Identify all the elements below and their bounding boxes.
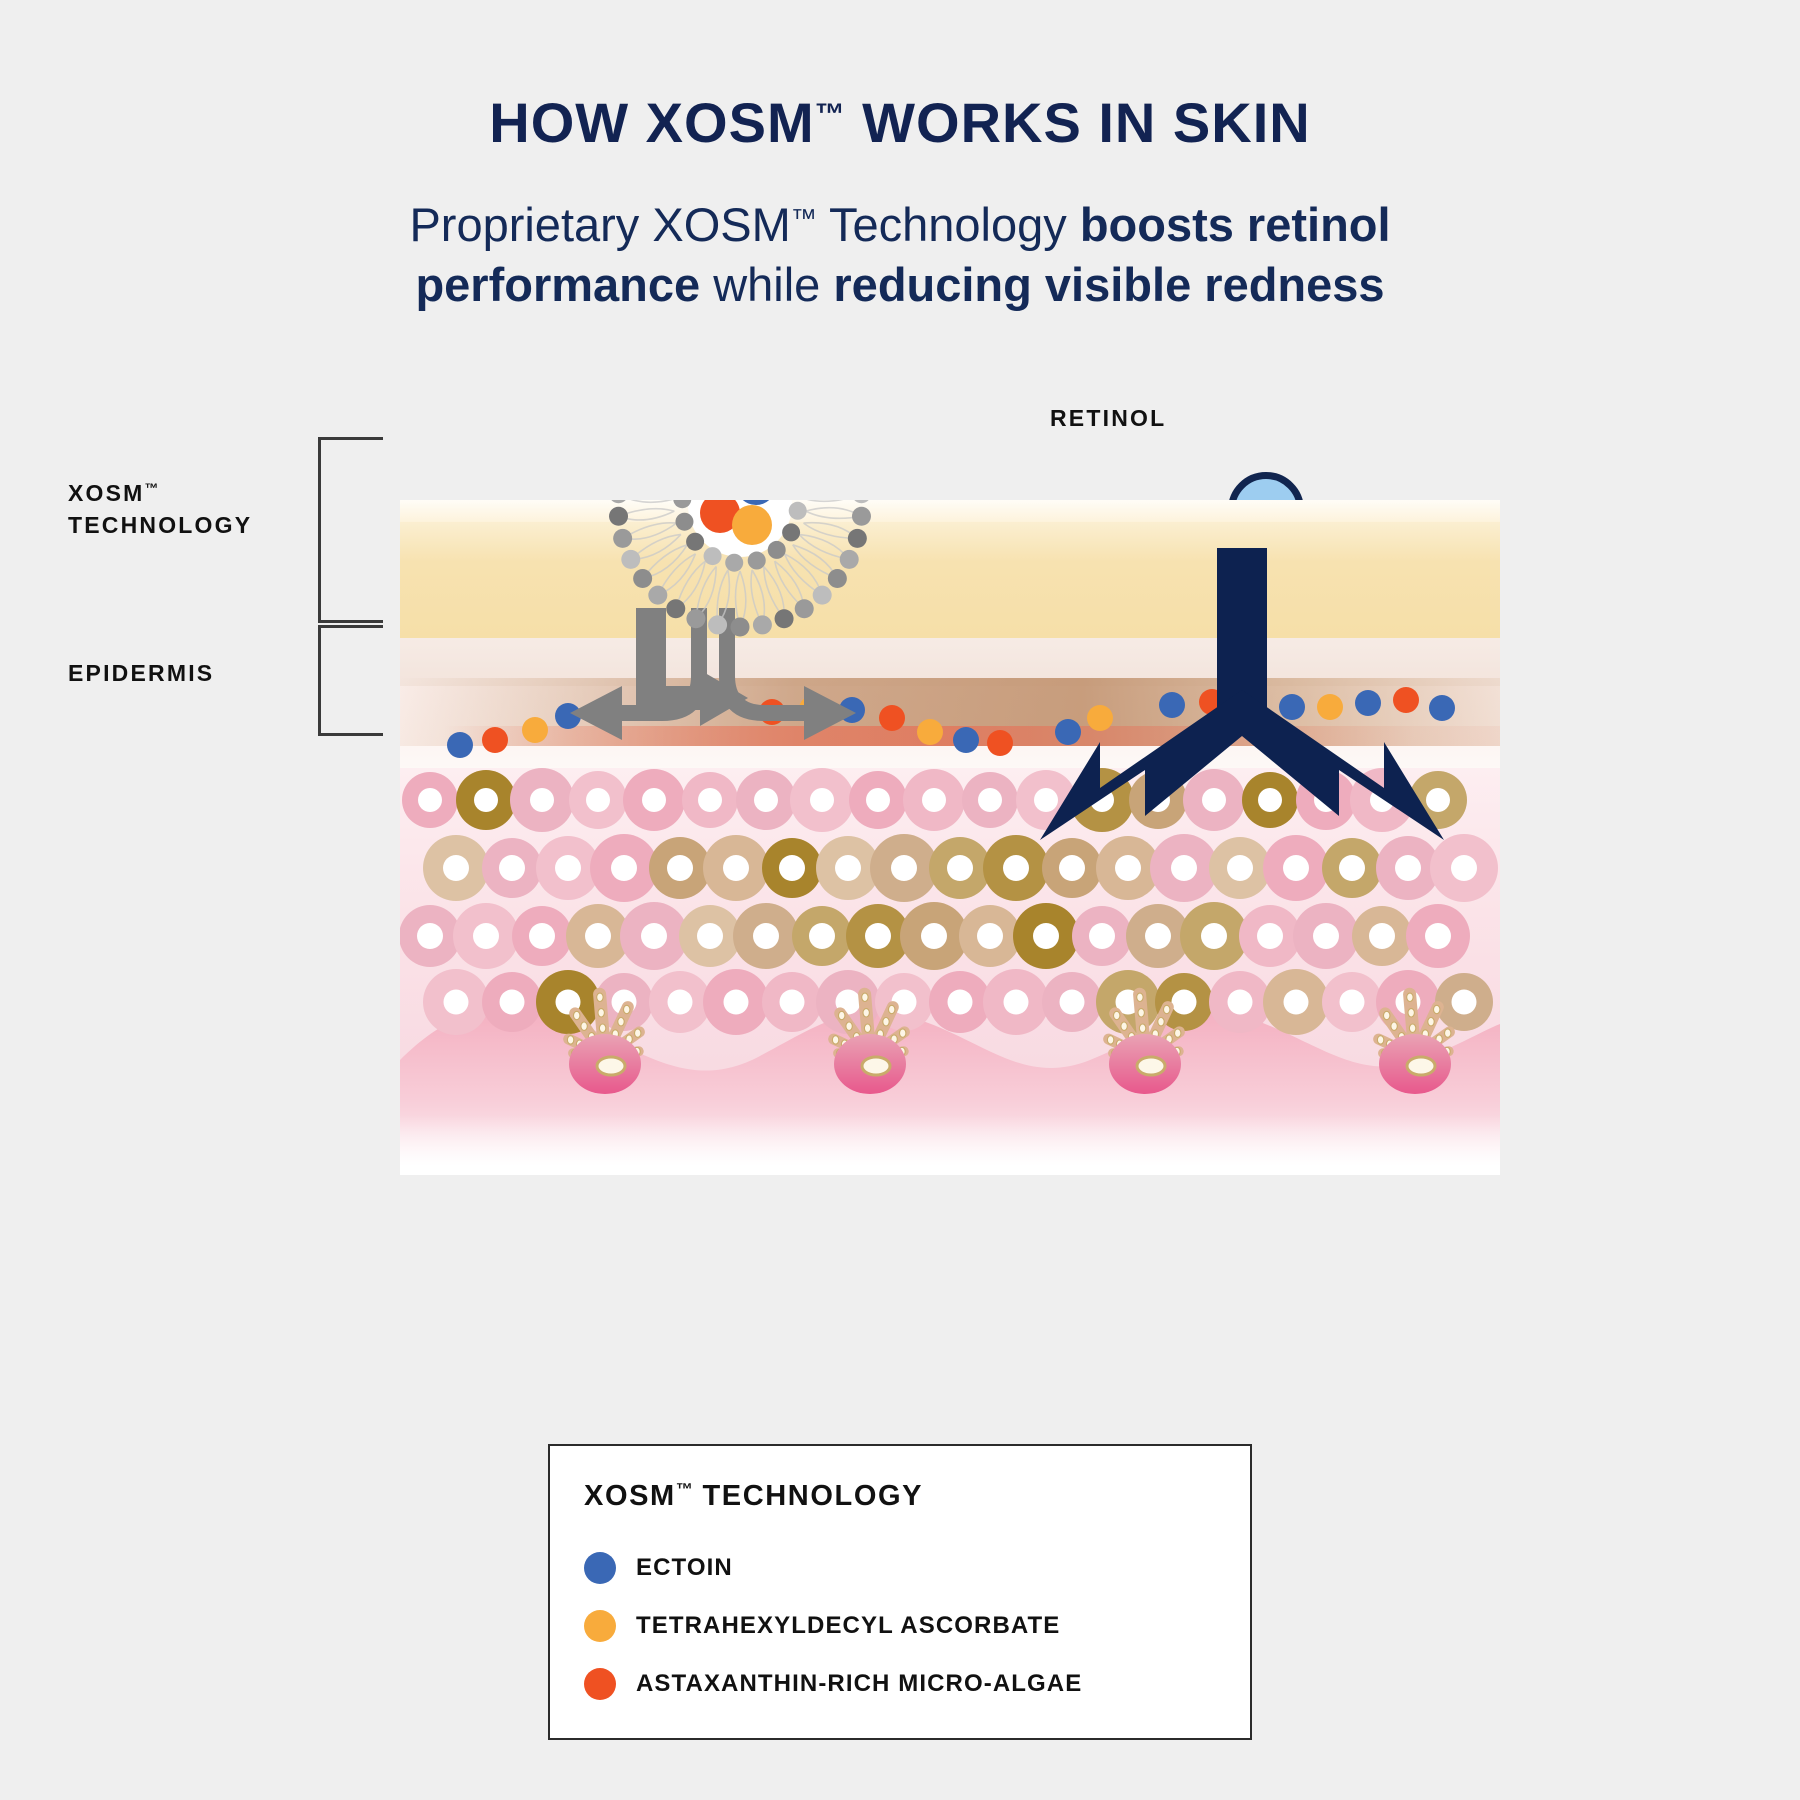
melanin-granule [839, 1011, 845, 1019]
keratinocyte-nucleus-void [444, 990, 469, 1015]
subtitle-part-c: while [700, 258, 833, 311]
ingredient-particle [1279, 694, 1305, 720]
keratinocyte-nucleus-void [948, 990, 973, 1015]
ingredient-particle [1355, 690, 1381, 716]
keratinocyte-nucleus-void [1089, 923, 1115, 949]
page-title-prefix: HOW XOSM [489, 91, 814, 154]
ingredient-particle [987, 730, 1013, 756]
melanin-granule [1139, 1024, 1145, 1032]
keratinocyte-nucleus-void [1339, 855, 1365, 881]
lipid-head-outer [731, 618, 750, 637]
melanin-granule [846, 1022, 852, 1030]
legend-title-main: XOSM [584, 1480, 676, 1512]
lipid-head-outer [648, 586, 667, 605]
melanin-granule [598, 1009, 604, 1017]
legend-title: XOSM™ TECHNOLOGY [584, 1480, 1250, 1513]
legend-item: ECTOIN [584, 1539, 1250, 1597]
keratinocyte-nucleus-void [1425, 923, 1451, 949]
melanocyte-nucleus [1407, 1057, 1435, 1075]
melanin-granule [581, 1022, 587, 1030]
keratinocyte-nucleus-void [586, 788, 610, 812]
lipid-head-outer [609, 500, 628, 503]
lipid-head-outer [613, 529, 632, 548]
melanin-granule [1407, 993, 1413, 1001]
keratinocyte-nucleus-void [417, 923, 443, 949]
layer-label-epidermis-text: EPIDERMIS [68, 660, 214, 686]
keratinocyte-nucleus-void [698, 788, 722, 812]
ingredient-particle [1429, 695, 1455, 721]
page-title: HOW XOSM™ WORKS IN SKIN [0, 90, 1800, 155]
lipid-head-outer [852, 500, 871, 503]
melanin-granule [624, 1005, 630, 1013]
keratinocyte-nucleus-void [1115, 855, 1141, 881]
ingredient-particle [1055, 719, 1081, 745]
legend-box: XOSM™ TECHNOLOGY ECTOINTETRAHEXYLDECYL A… [548, 1444, 1252, 1740]
melanin-granule [1137, 993, 1143, 1001]
lipid-head-inner [704, 547, 722, 565]
lipid-head-outer [686, 609, 705, 628]
trademark-icon: ™ [676, 1480, 693, 1499]
keratinocyte-nucleus-void [1201, 923, 1227, 949]
page-subtitle: Proprietary XOSM™ Technology boosts reti… [290, 195, 1510, 315]
keratinocyte-nucleus-void [1145, 923, 1171, 949]
keratinocyte-nucleus-void [443, 855, 469, 881]
subtitle-part-b: Technology [817, 198, 1080, 251]
keratinocyte-nucleus-void [1283, 855, 1309, 881]
lipid-head-inner [782, 523, 800, 541]
layer-label-xosm-line2: TECHNOLOGY [68, 512, 252, 538]
melanin-granule [1445, 1029, 1451, 1037]
keratinocyte-nucleus-void [418, 788, 442, 812]
trademark-icon: ™ [815, 98, 846, 131]
keratinocyte-nucleus-void [1257, 923, 1283, 949]
bracket-epidermis [318, 625, 383, 736]
keratinocyte-nucleus-void [1258, 788, 1282, 812]
keratinocyte-nucleus-void [779, 855, 805, 881]
ingredient-particle [1317, 694, 1343, 720]
keratinocyte-nucleus-void [1340, 990, 1365, 1015]
melanin-granule [618, 1018, 624, 1026]
particle-ascorbate [732, 505, 772, 545]
panel-bottom-fade [400, 1115, 1500, 1175]
melanin-granule [1138, 1009, 1144, 1017]
keratinocyte-nucleus-void [585, 923, 611, 949]
ingredient-particle [879, 705, 905, 731]
lipid-head-inner [789, 502, 807, 520]
keratinocyte-nucleus-void [780, 990, 805, 1015]
legend-title-rest: TECHNOLOGY [693, 1480, 923, 1512]
keratinocyte-nucleus-void [1003, 855, 1029, 881]
ingredient-particle [447, 732, 473, 758]
keratinocyte-nucleus-void [1426, 788, 1450, 812]
keratinocyte-nucleus-void [1059, 855, 1085, 881]
ingredient-particle [1393, 687, 1419, 713]
keratinocyte-nucleus-void [810, 788, 834, 812]
keratinocyte-nucleus-void [668, 990, 693, 1015]
subtitle-part-a: Proprietary XOSM [409, 198, 790, 251]
melanin-granule [1107, 1036, 1113, 1044]
ingredient-particle [522, 717, 548, 743]
legend-item-label: TETRAHEXYLDECYL ASCORBATE [636, 1612, 1060, 1640]
melanin-granule [900, 1029, 906, 1037]
bracket-xosm-technology [318, 437, 383, 623]
melanin-granule [1428, 1018, 1434, 1026]
melanin-granule [567, 1036, 573, 1044]
melanin-granule [1175, 1029, 1181, 1037]
keratinocyte-nucleus-void [1004, 990, 1029, 1015]
keratinocyte-nucleus-void [1369, 923, 1395, 949]
keratinocyte-nucleus-void [474, 788, 498, 812]
xosm-liposome-vesicle [600, 500, 880, 645]
keratinocyte-nucleus-void [835, 855, 861, 881]
lipid-head-outer [828, 569, 847, 588]
keratinocyte-nucleus-void [1034, 788, 1058, 812]
melanocyte-nucleus [1137, 1057, 1165, 1075]
lipid-tail [619, 500, 675, 502]
layer-label-xosm-line1: XOSM [68, 480, 145, 506]
retinol-arrow-stem [1217, 548, 1267, 708]
melanin-granule [1408, 1009, 1414, 1017]
keratinocyte-nucleus-void [891, 855, 917, 881]
melanin-granule [1164, 1005, 1170, 1013]
melanin-granule [597, 993, 603, 1001]
cells-and-dermis-layer [400, 500, 1500, 1175]
lipid-head-inner [725, 554, 743, 572]
keratinocyte-nucleus-void [921, 923, 947, 949]
keratinocyte-nucleus-void [1171, 855, 1197, 881]
melanin-granule [1409, 1024, 1415, 1032]
keratinocyte-nucleus-void [1284, 990, 1309, 1015]
keratinocyte-nucleus-void [1228, 990, 1253, 1015]
keratinocyte-nucleus-void [947, 855, 973, 881]
ingredient-particle [953, 727, 979, 753]
subtitle-bold-2: reducing visible redness [833, 258, 1384, 311]
keratinocyte-nucleus-void [1313, 923, 1339, 949]
melanin-granule [832, 1036, 838, 1044]
keratinocyte-nucleus-void [866, 788, 890, 812]
keratinocyte-nucleus-void [865, 923, 891, 949]
keratinocyte-nucleus-void [611, 855, 637, 881]
melanin-granule [889, 1005, 895, 1013]
lipid-head-outer [753, 615, 772, 634]
legend-item-label: ASTAXANTHIN-RICH MICRO-ALGAE [636, 1670, 1082, 1698]
melanin-granule [1434, 1005, 1440, 1013]
keratinocyte-nucleus-void [1202, 788, 1226, 812]
melanin-granule [863, 1009, 869, 1017]
lipid-head-outer [775, 609, 794, 628]
keratinocyte-nucleus-void [499, 855, 525, 881]
melanin-granule [1121, 1022, 1127, 1030]
keratinocyte-nucleus-void [922, 788, 946, 812]
melanin-granule [574, 1011, 580, 1019]
lipid-head-inner [686, 533, 704, 551]
legend-color-dot [584, 1552, 616, 1584]
keratinocyte-nucleus-void [1227, 855, 1253, 881]
keratinocyte-nucleus-void [1395, 855, 1421, 881]
melanin-granule [635, 1029, 641, 1037]
keratinocyte-nucleus-void [530, 788, 554, 812]
lipid-head-outer [666, 599, 685, 618]
ingredient-particle [917, 719, 943, 745]
ingredient-particle [482, 727, 508, 753]
keratinocyte-nucleus-void [753, 923, 779, 949]
legend-color-dot [584, 1668, 616, 1700]
legend-items: ECTOINTETRAHEXYLDECYL ASCORBATEASTAXANTH… [584, 1539, 1250, 1713]
melanin-granule [1384, 1011, 1390, 1019]
keratinocyte-nucleus-void [642, 788, 666, 812]
legend-color-dot [584, 1610, 616, 1642]
lipid-head-inner [768, 541, 786, 559]
infographic-canvas: HOW XOSM™ WORKS IN SKIN Proprietary XOSM… [0, 0, 1800, 1800]
keratinocyte-nucleus-void [977, 923, 1003, 949]
melanin-granule [1377, 1036, 1383, 1044]
lipid-head-outer [813, 586, 832, 605]
trademark-icon: ™ [791, 203, 817, 233]
melanin-granule [862, 993, 868, 1001]
lipid-head-outer [708, 615, 727, 634]
ingredient-particle [1087, 705, 1113, 731]
keratinocyte-nucleus-void [641, 923, 667, 949]
retinol-label: RETINOL [1050, 405, 1166, 432]
melanin-granule [864, 1024, 870, 1032]
keratinocyte-nucleus-void [724, 990, 749, 1015]
lipid-tail [806, 500, 862, 501]
keratinocyte-nucleus-void [809, 923, 835, 949]
lipid-head-outer [609, 507, 628, 526]
keratinocyte-nucleus-void [978, 788, 1002, 812]
trademark-icon: ™ [145, 480, 159, 496]
keratinocyte-nucleus-void [1451, 855, 1477, 881]
keratinocyte-nucleus-void [500, 990, 525, 1015]
keratinocyte-nucleus-void [723, 855, 749, 881]
legend-item-label: ECTOIN [636, 1554, 733, 1582]
keratinocyte-nucleus-void [697, 923, 723, 949]
keratinocyte-nucleus-void [667, 855, 693, 881]
melanin-granule [1158, 1018, 1164, 1026]
keratinocyte-nucleus-void [1060, 990, 1085, 1015]
lipid-head-outer [621, 550, 640, 569]
lipid-head-outer [852, 507, 871, 526]
melanin-granule [1391, 1022, 1397, 1030]
keratinocyte-nucleus-void [1452, 990, 1477, 1015]
legend-item: TETRAHEXYLDECYL ASCORBATE [584, 1597, 1250, 1655]
melanocyte-nucleus [597, 1057, 625, 1075]
keratinocyte-nucleus-void [529, 923, 555, 949]
legend-item: ASTAXANTHIN-RICH MICRO-ALGAE [584, 1655, 1250, 1713]
melanin-granule [883, 1018, 889, 1026]
melanin-granule [599, 1024, 605, 1032]
keratinocyte-nucleus-void [1172, 990, 1197, 1015]
lipid-head-outer [840, 550, 859, 569]
melanocyte-nucleus [862, 1057, 890, 1075]
lipid-head-outer [848, 529, 867, 548]
melanin-granule [1114, 1011, 1120, 1019]
keratinocyte-nucleus-void [473, 923, 499, 949]
lipid-head-outer [633, 569, 652, 588]
keratinocyte-nucleus-void [1033, 923, 1059, 949]
ingredient-particle [1159, 692, 1185, 718]
keratinocyte-nucleus-void [555, 855, 581, 881]
lipid-head-inner [748, 552, 766, 570]
lipid-head-inner [675, 513, 693, 531]
page-title-suffix: WORKS IN SKIN [846, 91, 1311, 154]
lipid-head-outer [795, 599, 814, 618]
skin-cross-section-diagram [400, 500, 1500, 1175]
keratinocyte-nucleus-void [754, 788, 778, 812]
